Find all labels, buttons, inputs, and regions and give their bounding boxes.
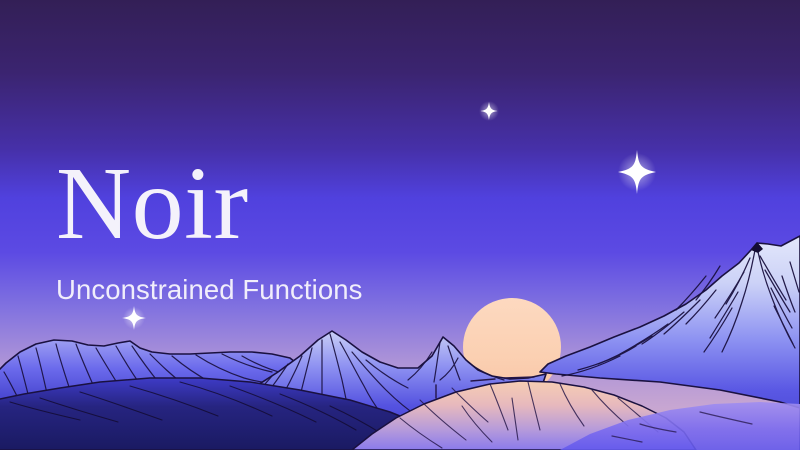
page-subtitle: Unconstrained Functions [56, 256, 363, 306]
title-card: Noir Unconstrained Functions [0, 0, 800, 450]
star-small-upper [479, 101, 499, 121]
hero-text-block: Noir Unconstrained Functions [56, 152, 363, 306]
page-title: Noir [56, 152, 363, 256]
